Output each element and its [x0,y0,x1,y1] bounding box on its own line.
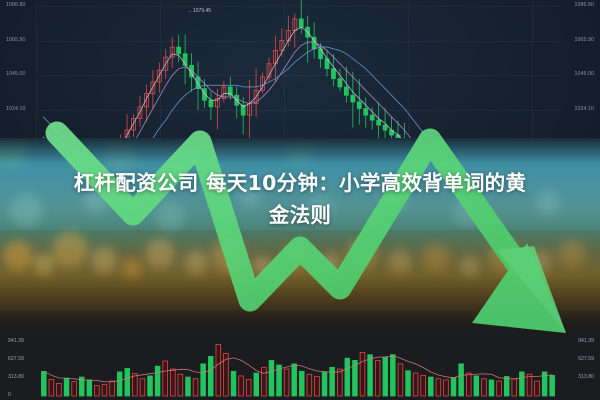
screenshot-root: 1086.801065.901045.001024.101003.20982.3… [0,0,600,400]
page-title-line-2: 金法则 [0,200,600,232]
page-title-line-1: 杠杆配资公司 每天10分钟：小学高效背单词的黄 [0,168,600,200]
page-title: 杠杆配资公司 每天10分钟：小学高效背单词的黄 金法则 [0,168,600,232]
